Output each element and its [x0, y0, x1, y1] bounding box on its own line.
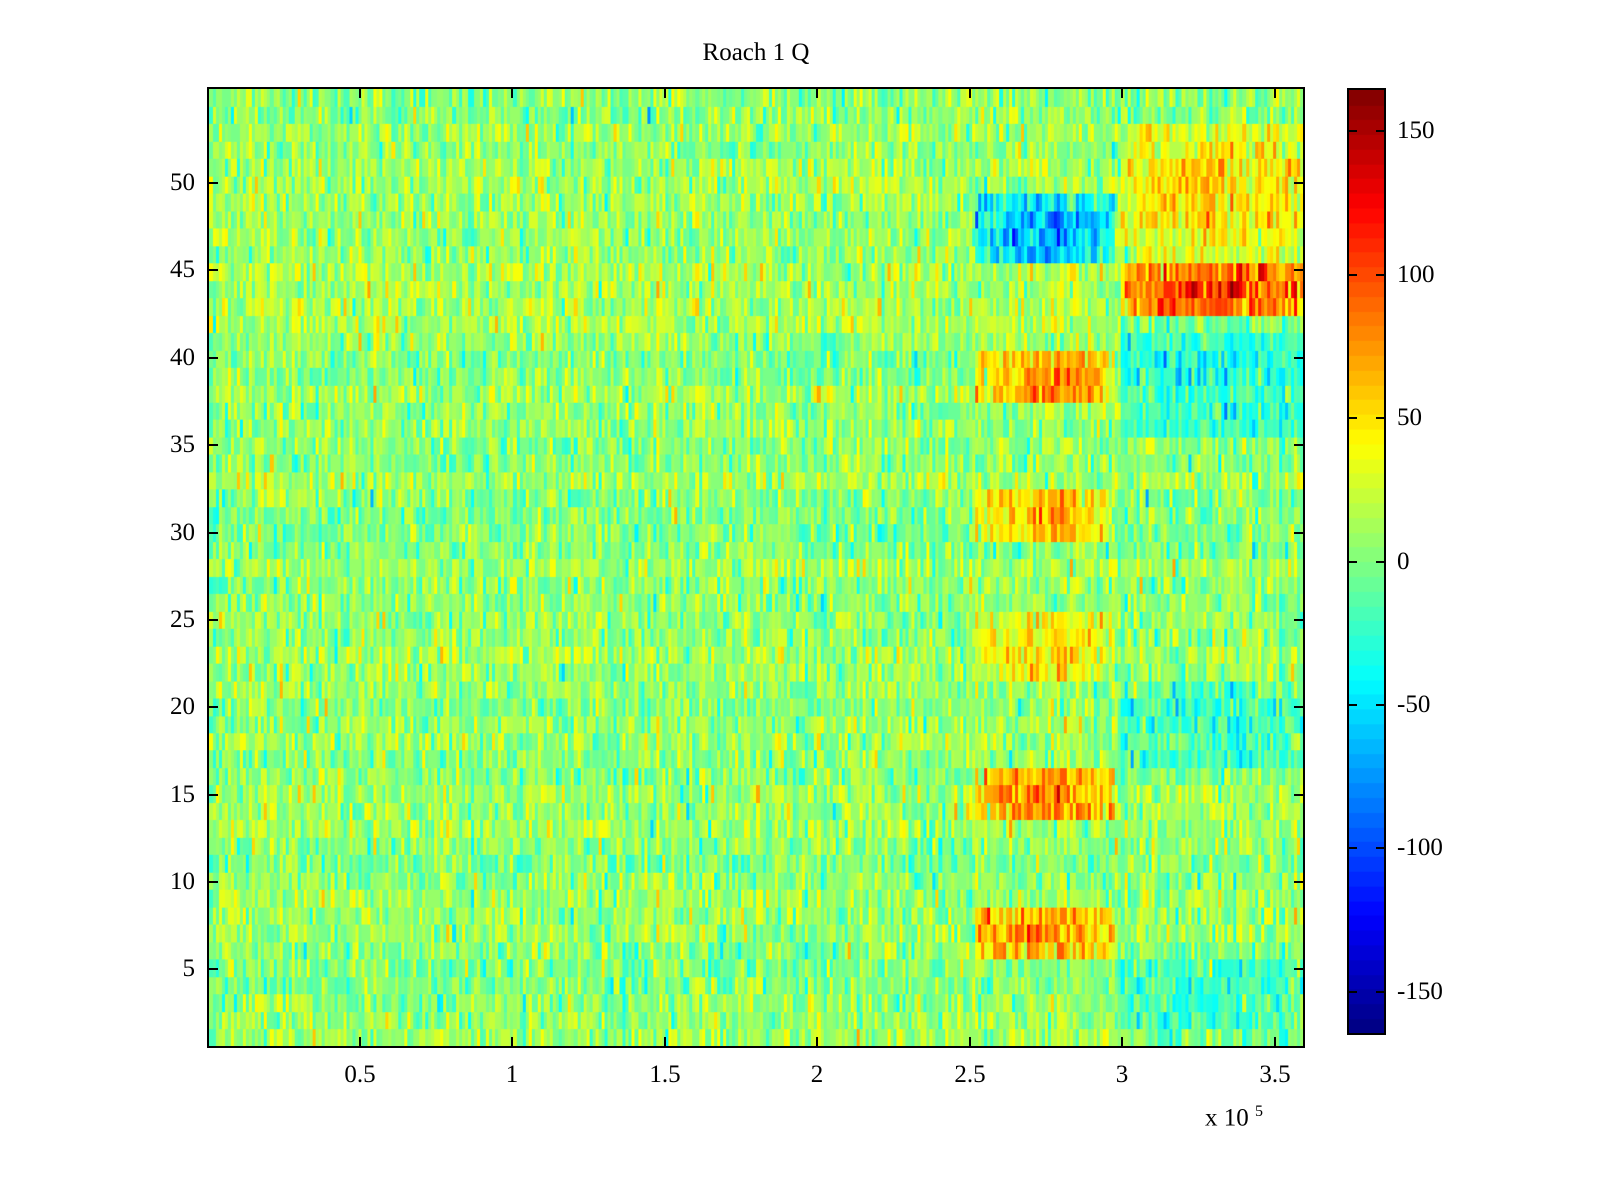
x-axis-tick-label: 2.5 [930, 1062, 1010, 1087]
x-axis-tick [511, 1037, 513, 1048]
heatmap-image[interactable] [209, 89, 1303, 1046]
colorbar-tick [1347, 561, 1357, 563]
colorbar-tick [1347, 847, 1357, 849]
colorbar-tick-label: 100 [1397, 262, 1435, 287]
colorbar-tick-right [1376, 991, 1386, 993]
colorbar-tick-label: 0 [1397, 549, 1410, 574]
y-axis-tick-label: 45 [135, 257, 195, 282]
y-axis-tick [207, 532, 218, 534]
colorbar-tick-right [1376, 417, 1386, 419]
x-axis-tick-label: 3 [1082, 1062, 1162, 1087]
y-axis-tick-label: 50 [135, 170, 195, 195]
y-axis-tick [207, 881, 218, 883]
x-axis-tick-top [816, 87, 818, 98]
x-axis-tick-top [1274, 87, 1276, 98]
y-axis-tick-label: 15 [135, 782, 195, 807]
y-axis-tick-label: 40 [135, 345, 195, 370]
x-axis-tick-top [664, 87, 666, 98]
x-axis-tick-label: 3.5 [1235, 1062, 1315, 1087]
y-axis-tick [207, 357, 218, 359]
colorbar-tick-right [1376, 847, 1386, 849]
y-axis-tick-label: 35 [135, 432, 195, 457]
y-axis-tick-label: 20 [135, 694, 195, 719]
x-axis-tick-top [511, 87, 513, 98]
y-axis-tick-label: 10 [135, 869, 195, 894]
y-axis-tick [207, 794, 218, 796]
colorbar-tick-right [1376, 561, 1386, 563]
colorbar-tick-right [1376, 704, 1386, 706]
x-axis-tick [816, 1037, 818, 1048]
x-axis-exponent-label: x 10 5 [1205, 1104, 1263, 1130]
y-axis-tick-right [1294, 706, 1305, 708]
y-axis-tick [207, 182, 218, 184]
y-axis-tick [207, 269, 218, 271]
y-axis-tick [207, 619, 218, 621]
y-axis-tick-right [1294, 357, 1305, 359]
y-axis-tick-label: 25 [135, 607, 195, 632]
x-axis-tick-label: 1.5 [625, 1062, 705, 1087]
x-axis-tick-top [969, 87, 971, 98]
colorbar-tick [1347, 417, 1357, 419]
x-axis-tick [969, 1037, 971, 1048]
y-axis-tick [207, 968, 218, 970]
y-axis-tick-right [1294, 269, 1305, 271]
x-axis-tick-label: 2 [777, 1062, 857, 1087]
colorbar-tick-label: -100 [1397, 835, 1443, 860]
x-axis-tick-top [1121, 87, 1123, 98]
y-axis-tick-label: 30 [135, 520, 195, 545]
x-axis-tick [1274, 1037, 1276, 1048]
y-axis-tick-right [1294, 619, 1305, 621]
y-axis-tick-right [1294, 532, 1305, 534]
colorbar-tick-label: 50 [1397, 405, 1422, 430]
x-axis-tick [664, 1037, 666, 1048]
y-axis-tick-right [1294, 968, 1305, 970]
y-axis-tick-right [1294, 182, 1305, 184]
colorbar-tick [1347, 991, 1357, 993]
colorbar-tick [1347, 274, 1357, 276]
y-axis-tick [207, 706, 218, 708]
colorbar-tick-label: 150 [1397, 118, 1435, 143]
y-axis-tick [207, 444, 218, 446]
y-axis-tick-right [1294, 444, 1305, 446]
x-axis-tick-label: 0.5 [320, 1062, 400, 1087]
colorbar-tick [1347, 704, 1357, 706]
colorbar-tick [1347, 130, 1357, 132]
colorbar-tick-right [1376, 274, 1386, 276]
colorbar-tick-label: -150 [1397, 979, 1443, 1004]
y-axis-tick-right [1294, 881, 1305, 883]
y-axis-tick-right [1294, 794, 1305, 796]
x-axis-tick-top [359, 87, 361, 98]
x-axis-tick [359, 1037, 361, 1048]
colorbar-tick-label: -50 [1397, 692, 1430, 717]
x-axis-tick [1121, 1037, 1123, 1048]
x-axis-tick-label: 1 [472, 1062, 552, 1087]
matlab-figure: Roach 1 Q 51015202530354045500.511.522.5… [0, 0, 1600, 1200]
y-axis-tick-label: 5 [135, 956, 195, 981]
colorbar-tick-right [1376, 130, 1386, 132]
heatmap-axes[interactable] [207, 87, 1305, 1048]
page-title: Roach 1 Q [207, 40, 1305, 65]
